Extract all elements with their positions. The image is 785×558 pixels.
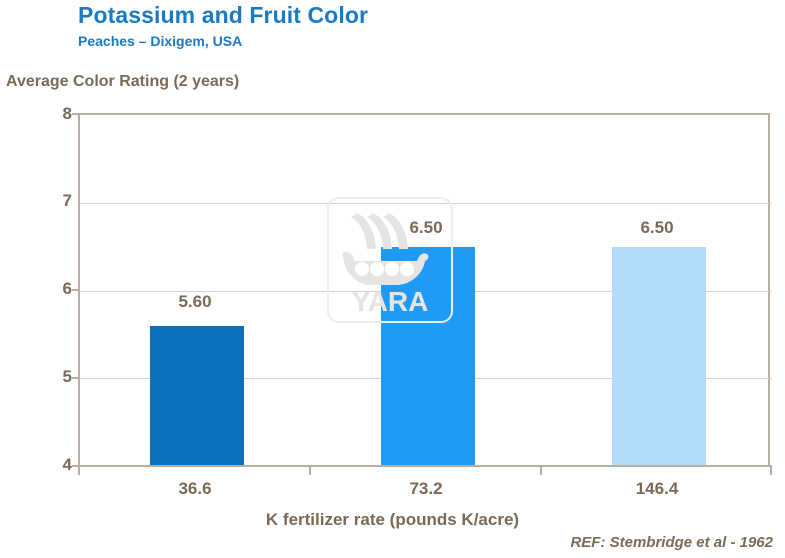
chart-screenshot: Potassium and Fruit Color Peaches – Dixi…: [0, 0, 785, 558]
x-axis-title: K fertilizer rate (pounds K/acre): [0, 510, 785, 530]
bar-value-label-2: 6.50: [409, 218, 442, 238]
plot-area: [78, 113, 770, 466]
y-axis-title: Average Color Rating (2 years): [6, 73, 239, 91]
bar-value-label-1: 5.60: [178, 292, 211, 312]
y-tick-label-7: 7: [10, 191, 72, 211]
x-tick-mark-3: [770, 466, 772, 475]
y-tick-label-5: 5: [10, 367, 72, 387]
bar-73.2[interactable]: [381, 247, 475, 466]
y-tick-mark-8: [72, 113, 78, 115]
reference-note: REF: Stembridge et al - 1962: [570, 534, 773, 551]
bar-146.4[interactable]: [612, 247, 706, 466]
x-tick-label-2: 73.2: [409, 479, 442, 499]
page-title: Potassium and Fruit Color: [78, 2, 368, 29]
x-tick-mark-1: [309, 466, 311, 475]
x-tick-mark-0: [78, 466, 80, 475]
page-subtitle: Peaches – Dixigem, USA: [78, 33, 242, 49]
y-tick-label-8: 8: [10, 104, 72, 124]
x-tick-mark-2: [540, 466, 542, 475]
x-tick-label-3: 146.4: [636, 479, 679, 499]
y-tick-label-4: 4: [10, 455, 72, 475]
x-tick-label-1: 36.6: [178, 479, 211, 499]
y-tick-mark-6: [72, 289, 78, 291]
y-tick-label-6: 6: [10, 279, 72, 299]
x-axis-line: [78, 465, 772, 467]
y-tick-mark-5: [72, 377, 78, 379]
bar-36.6[interactable]: [150, 326, 244, 466]
gridline-7: [80, 203, 772, 204]
bar-value-label-3: 6.50: [640, 218, 673, 238]
